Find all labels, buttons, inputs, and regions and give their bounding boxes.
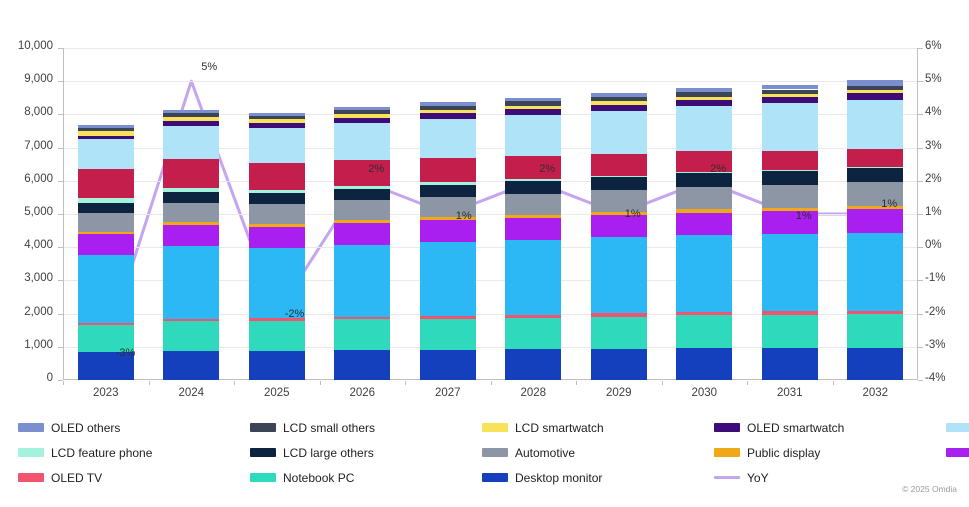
yoy-data-label: 1% bbox=[625, 208, 641, 220]
y-axis-tick bbox=[58, 247, 63, 248]
yoy-data-label: 1% bbox=[796, 210, 812, 222]
x-axis-tick-label: 2026 bbox=[334, 387, 390, 399]
legend-item[interactable]: LCD smartwatch bbox=[482, 421, 714, 435]
bar-segment[interactable] bbox=[591, 101, 647, 104]
bar-segment[interactable] bbox=[505, 101, 561, 105]
y-axis-right-tick-label: 3% bbox=[925, 140, 969, 152]
x-axis-tick-label: 2025 bbox=[249, 387, 305, 399]
y-axis-tick bbox=[918, 48, 923, 49]
y-axis-tick bbox=[918, 280, 923, 281]
y-axis-tick bbox=[58, 148, 63, 149]
bar-segment[interactable] bbox=[505, 215, 561, 218]
legend-label: YoY bbox=[747, 471, 769, 485]
bar-segment[interactable] bbox=[249, 128, 305, 163]
y-axis-left-tick-label: 5,000 bbox=[3, 206, 53, 218]
bar-segment[interactable] bbox=[163, 126, 219, 159]
yoy-data-label: 2% bbox=[368, 163, 384, 175]
y-axis-right-tick-label: -2% bbox=[925, 306, 969, 318]
legend-label: LCD smartwatch bbox=[515, 421, 604, 435]
x-axis-tick-label: 2032 bbox=[847, 387, 903, 399]
bar-segment[interactable] bbox=[249, 116, 305, 120]
y-axis-left-tick-label: 10,000 bbox=[3, 40, 53, 52]
legend-label: LCD small others bbox=[283, 421, 375, 435]
bar-segment[interactable] bbox=[334, 220, 390, 223]
legend-color-swatch bbox=[18, 473, 44, 482]
bar-segment[interactable] bbox=[163, 188, 219, 192]
bar-segment[interactable] bbox=[762, 234, 818, 311]
bar-segment[interactable] bbox=[163, 159, 219, 188]
legend-item[interactable]: YoY bbox=[714, 471, 946, 485]
bar-segment[interactable] bbox=[334, 110, 390, 114]
bar-segment[interactable] bbox=[591, 177, 647, 190]
bar-segment[interactable] bbox=[591, 349, 647, 380]
legend-item[interactable]: Tablet bbox=[946, 446, 969, 460]
y-axis-tick bbox=[58, 181, 63, 182]
bar-segment[interactable] bbox=[591, 317, 647, 350]
bar-stack[interactable] bbox=[249, 48, 305, 380]
bar-segment[interactable] bbox=[676, 235, 732, 312]
bar-segment[interactable] bbox=[420, 182, 476, 184]
legend-item[interactable]: OLED smartphone bbox=[946, 421, 969, 435]
bar-segment[interactable] bbox=[762, 151, 818, 170]
bar-segment[interactable] bbox=[334, 317, 390, 320]
bar-segment[interactable] bbox=[762, 94, 818, 97]
bar-segment[interactable] bbox=[78, 136, 134, 139]
bar-segment[interactable] bbox=[847, 93, 903, 100]
y-axis-left-tick-label: 2,000 bbox=[3, 306, 53, 318]
x-axis-tick-label: 2031 bbox=[762, 387, 818, 399]
bar-segment[interactable] bbox=[676, 348, 732, 380]
legend-item[interactable]: LCD large others bbox=[250, 446, 482, 460]
yoy-data-label: -2% bbox=[285, 308, 305, 320]
bar-segment[interactable] bbox=[334, 200, 390, 220]
x-axis-tick bbox=[833, 381, 834, 385]
y-axis-right-tick-label: -3% bbox=[925, 339, 969, 351]
bar-segment[interactable] bbox=[505, 194, 561, 215]
bar-segment[interactable] bbox=[591, 93, 647, 97]
y-axis-left-tick-label: 0 bbox=[3, 372, 53, 384]
chart-page: OLED othersLCD small othersLCD smartwatc… bbox=[0, 0, 969, 507]
legend-item[interactable]: OLED others bbox=[18, 421, 250, 435]
y-axis-tick bbox=[58, 81, 63, 82]
y-axis-tick bbox=[58, 114, 63, 115]
bar-segment[interactable] bbox=[249, 321, 305, 351]
bar-segment[interactable] bbox=[505, 349, 561, 380]
legend-color-swatch bbox=[18, 448, 44, 457]
bar-segment[interactable] bbox=[762, 97, 818, 104]
y-axis-left-tick-label: 7,000 bbox=[3, 140, 53, 152]
bar-segment[interactable] bbox=[762, 103, 818, 150]
bar-segment[interactable] bbox=[591, 111, 647, 154]
legend-item[interactable]: OLED smartwatch bbox=[714, 421, 946, 435]
bar-segment[interactable] bbox=[505, 318, 561, 350]
bar-segment[interactable] bbox=[78, 232, 134, 235]
bar-segment[interactable] bbox=[847, 86, 903, 90]
bar-segment[interactable] bbox=[505, 218, 561, 240]
y-axis-right-tick-label: 6% bbox=[925, 40, 969, 52]
bar-segment[interactable] bbox=[505, 240, 561, 315]
yoy-data-label: 2% bbox=[710, 163, 726, 175]
legend-item[interactable]: Desktop monitor bbox=[482, 471, 714, 485]
legend-label: Automotive bbox=[515, 446, 575, 460]
bar-segment[interactable] bbox=[591, 176, 647, 177]
bar-segment[interactable] bbox=[847, 90, 903, 93]
legend-color-swatch bbox=[18, 423, 44, 432]
y-axis-tick bbox=[58, 347, 63, 348]
bar-segment[interactable] bbox=[420, 319, 476, 351]
bar-segment[interactable] bbox=[847, 233, 903, 311]
y-axis-right-tick-label: 2% bbox=[925, 173, 969, 185]
y-axis-tick bbox=[58, 280, 63, 281]
bar-segment[interactable] bbox=[420, 350, 476, 380]
legend-color-swatch bbox=[250, 448, 276, 457]
y-axis-right-tick-label: 1% bbox=[925, 206, 969, 218]
bar-segment[interactable] bbox=[676, 97, 732, 100]
bar-segment[interactable] bbox=[163, 192, 219, 203]
bar-segment[interactable] bbox=[591, 237, 647, 313]
y-axis-tick bbox=[918, 148, 923, 149]
legend-row: LCD feature phoneLCD large othersAutomot… bbox=[18, 440, 958, 465]
legend-row: OLED TVNotebook PCDesktop monitorYoY bbox=[18, 465, 958, 490]
legend-color-swatch bbox=[714, 423, 740, 432]
plot-area bbox=[63, 48, 918, 380]
bar-segment[interactable] bbox=[762, 348, 818, 380]
bar-segment[interactable] bbox=[420, 220, 476, 242]
bar-segment[interactable] bbox=[676, 173, 732, 187]
x-axis-tick-label: 2028 bbox=[505, 387, 561, 399]
bar-segment[interactable] bbox=[591, 154, 647, 176]
bar-segment[interactable] bbox=[163, 246, 219, 319]
bar-segment[interactable] bbox=[420, 242, 476, 316]
yoy-data-label: 1% bbox=[456, 210, 472, 222]
x-axis-tick bbox=[576, 381, 577, 385]
bar-segment[interactable] bbox=[78, 131, 134, 136]
bar-segment[interactable] bbox=[847, 80, 903, 85]
legend-color-swatch bbox=[482, 448, 508, 457]
chart-legend: OLED othersLCD small othersLCD smartwatc… bbox=[18, 415, 958, 490]
bar-segment[interactable] bbox=[420, 316, 476, 319]
y-axis-right-tick-label: 0% bbox=[925, 239, 969, 251]
bar-segment[interactable] bbox=[847, 167, 903, 168]
bar-segment[interactable] bbox=[334, 114, 390, 118]
x-axis-tick-label: 2029 bbox=[591, 387, 647, 399]
bar-segment[interactable] bbox=[762, 315, 818, 349]
legend-item[interactable]: LCD feature phone bbox=[18, 446, 250, 460]
bar-segment[interactable] bbox=[676, 213, 732, 236]
y-axis-left bbox=[63, 48, 64, 380]
bar-segment[interactable] bbox=[762, 85, 818, 90]
bar-segment[interactable] bbox=[847, 311, 903, 315]
bar-segment[interactable] bbox=[249, 224, 305, 227]
bar-segment[interactable] bbox=[847, 314, 903, 348]
y-axis-tick bbox=[58, 314, 63, 315]
bar-segment[interactable] bbox=[78, 125, 134, 127]
bar-segment[interactable] bbox=[420, 119, 476, 158]
bar-segment[interactable] bbox=[591, 97, 647, 101]
bar-segment[interactable] bbox=[163, 222, 219, 225]
y-axis-left-tick-label: 8,000 bbox=[3, 106, 53, 118]
bar-segment[interactable] bbox=[505, 115, 561, 156]
legend-color-swatch bbox=[482, 423, 508, 432]
legend-label: Public display bbox=[747, 446, 820, 460]
legend-item[interactable]: Public display bbox=[714, 446, 946, 460]
x-axis-tick-label: 2024 bbox=[163, 387, 219, 399]
y-axis-tick bbox=[58, 48, 63, 49]
bar-segment[interactable] bbox=[334, 223, 390, 244]
bar-segment[interactable] bbox=[78, 139, 134, 169]
bar-segment[interactable] bbox=[762, 185, 818, 208]
bar-segment[interactable] bbox=[420, 106, 476, 110]
legend-label: Desktop monitor bbox=[515, 471, 602, 485]
yoy-data-label: -3% bbox=[116, 347, 136, 359]
y-axis-left-tick-label: 6,000 bbox=[3, 173, 53, 185]
bar-segment[interactable] bbox=[163, 203, 219, 222]
bar-segment[interactable] bbox=[249, 163, 305, 190]
bar-segment[interactable] bbox=[762, 171, 818, 185]
bar-segment[interactable] bbox=[163, 321, 219, 351]
bar-segment[interactable] bbox=[249, 190, 305, 193]
bar-segment[interactable] bbox=[163, 319, 219, 321]
bar-segment[interactable] bbox=[249, 193, 305, 204]
bar-segment[interactable] bbox=[847, 348, 903, 380]
bar-segment[interactable] bbox=[676, 100, 732, 106]
bar-segment[interactable] bbox=[676, 209, 732, 212]
x-axis-tick bbox=[63, 381, 64, 385]
y-axis-tick bbox=[918, 114, 923, 115]
legend-color-swatch bbox=[250, 423, 276, 432]
bar-stack[interactable] bbox=[505, 48, 561, 380]
x-axis-tick-label: 2030 bbox=[676, 387, 732, 399]
bar-segment[interactable] bbox=[249, 123, 305, 128]
legend-label: OLED TV bbox=[51, 471, 102, 485]
legend-row: OLED othersLCD small othersLCD smartwatc… bbox=[18, 415, 958, 440]
bar-segment[interactable] bbox=[163, 225, 219, 246]
y-axis-right-tick-label: 5% bbox=[925, 73, 969, 85]
y-axis-right-tick-label: -4% bbox=[925, 372, 969, 384]
legend-color-swatch bbox=[714, 448, 740, 457]
bar-segment[interactable] bbox=[249, 119, 305, 123]
x-axis-tick bbox=[662, 381, 663, 385]
bar-segment[interactable] bbox=[78, 198, 134, 203]
bar-segment[interactable] bbox=[78, 323, 134, 325]
legend-item[interactable]: Notebook PC bbox=[250, 471, 482, 485]
bar-stack[interactable] bbox=[676, 48, 732, 380]
bar-segment[interactable] bbox=[334, 107, 390, 110]
legend-item[interactable]: LCD small others bbox=[250, 421, 482, 435]
x-axis-tick-label: 2027 bbox=[420, 387, 476, 399]
bar-segment[interactable] bbox=[847, 100, 903, 149]
bar-segment[interactable] bbox=[420, 110, 476, 114]
bar-segment[interactable] bbox=[420, 185, 476, 197]
legend-color-swatch bbox=[250, 473, 276, 482]
bar-segment[interactable] bbox=[78, 234, 134, 255]
yoy-data-label: 2% bbox=[539, 163, 555, 175]
y-axis-left-tick-label: 1,000 bbox=[3, 339, 53, 351]
x-axis-tick bbox=[747, 381, 748, 385]
legend-label: Notebook PC bbox=[283, 471, 354, 485]
y-axis-right-tick-label: 4% bbox=[925, 106, 969, 118]
y-axis-tick bbox=[918, 380, 923, 381]
legend-line-swatch bbox=[714, 476, 740, 479]
bar-segment[interactable] bbox=[163, 121, 219, 125]
bar-segment[interactable] bbox=[591, 105, 647, 111]
bar-segment[interactable] bbox=[505, 109, 561, 115]
bar-segment[interactable] bbox=[676, 187, 732, 210]
legend-item[interactable]: Automotive bbox=[482, 446, 714, 460]
bar-segment[interactable] bbox=[249, 227, 305, 248]
bar-segment[interactable] bbox=[676, 315, 732, 348]
x-axis-tick bbox=[234, 381, 235, 385]
bar-segment[interactable] bbox=[78, 203, 134, 213]
bar-stack[interactable] bbox=[334, 48, 390, 380]
x-axis-tick-label: 2023 bbox=[78, 387, 134, 399]
legend-color-swatch bbox=[946, 448, 969, 457]
bar-segment[interactable] bbox=[334, 189, 390, 201]
bar-segment[interactable] bbox=[78, 213, 134, 232]
bar-segment[interactable] bbox=[762, 311, 818, 314]
bar-stack[interactable] bbox=[847, 48, 903, 380]
bar-segment[interactable] bbox=[847, 149, 903, 167]
bar-segment[interactable] bbox=[334, 118, 390, 123]
bar-segment[interactable] bbox=[334, 123, 390, 160]
bar-segment[interactable] bbox=[762, 170, 818, 171]
bar-segment[interactable] bbox=[676, 88, 732, 92]
x-axis-tick bbox=[405, 381, 406, 385]
x-axis-tick bbox=[491, 381, 492, 385]
bar-segment[interactable] bbox=[163, 351, 219, 380]
x-axis-tick bbox=[320, 381, 321, 385]
bar-segment[interactable] bbox=[420, 158, 476, 183]
legend-label: LCD large others bbox=[283, 446, 374, 460]
y-axis-left-tick-label: 4,000 bbox=[3, 239, 53, 251]
y-axis-right-tick-label: -1% bbox=[925, 272, 969, 284]
bar-segment[interactable] bbox=[420, 102, 476, 105]
y-axis-tick bbox=[918, 181, 923, 182]
bar-segment[interactable] bbox=[505, 315, 561, 318]
bar-segment[interactable] bbox=[78, 128, 134, 132]
bar-segment[interactable] bbox=[505, 179, 561, 181]
bar-segment[interactable] bbox=[249, 204, 305, 224]
bar-segment[interactable] bbox=[163, 117, 219, 121]
y-axis-tick bbox=[918, 347, 923, 348]
yoy-data-label: 1% bbox=[881, 198, 897, 210]
bar-segment[interactable] bbox=[676, 312, 732, 315]
legend-label: LCD feature phone bbox=[51, 446, 152, 460]
bar-stack[interactable] bbox=[163, 48, 219, 380]
bar-segment[interactable] bbox=[847, 209, 903, 232]
bar-segment[interactable] bbox=[334, 245, 390, 317]
y-axis-tick bbox=[58, 214, 63, 215]
bar-segment[interactable] bbox=[762, 90, 818, 94]
bar-segment[interactable] bbox=[249, 351, 305, 380]
bar-segment[interactable] bbox=[163, 110, 219, 113]
bar-segment[interactable] bbox=[334, 350, 390, 380]
bar-segment[interactable] bbox=[505, 106, 561, 109]
bar-segment[interactable] bbox=[591, 313, 647, 316]
bar-segment[interactable] bbox=[334, 319, 390, 350]
y-axis-tick bbox=[918, 81, 923, 82]
bar-segment[interactable] bbox=[505, 181, 561, 194]
bar-segment[interactable] bbox=[78, 255, 134, 323]
bar-segment[interactable] bbox=[78, 169, 134, 198]
bar-stack[interactable] bbox=[78, 48, 134, 380]
y-axis-left-tick-label: 9,000 bbox=[3, 73, 53, 85]
bar-segment[interactable] bbox=[249, 113, 305, 116]
legend-color-swatch bbox=[482, 473, 508, 482]
bar-segment[interactable] bbox=[505, 98, 561, 102]
bar-segment[interactable] bbox=[847, 167, 903, 182]
x-axis-tick bbox=[149, 381, 150, 385]
legend-item[interactable]: OLED TV bbox=[18, 471, 250, 485]
y-axis-tick bbox=[918, 214, 923, 215]
copyright-notice: © 2025 Omdia bbox=[902, 484, 957, 494]
bar-segment[interactable] bbox=[420, 113, 476, 118]
y-axis-left-tick-label: 3,000 bbox=[3, 272, 53, 284]
bar-segment[interactable] bbox=[676, 92, 732, 96]
legend-label: OLED smartwatch bbox=[747, 421, 844, 435]
yoy-data-label: 5% bbox=[201, 61, 217, 73]
legend-color-swatch bbox=[946, 423, 969, 432]
bar-segment[interactable] bbox=[676, 106, 732, 151]
legend-label: OLED others bbox=[51, 421, 120, 435]
bar-segment[interactable] bbox=[163, 113, 219, 117]
y-axis-tick bbox=[918, 314, 923, 315]
y-axis-tick bbox=[918, 247, 923, 248]
bar-segment[interactable] bbox=[334, 186, 390, 189]
